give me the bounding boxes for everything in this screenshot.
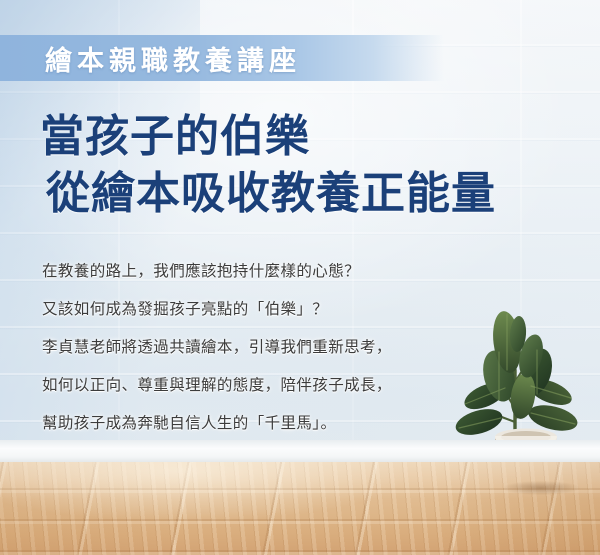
event-poster: 繪本親職教養講座 當孩子的伯樂 從繪本吸收教養正能量 在教養的路上，我們應該抱持… xyxy=(0,0,600,555)
floor-lighting xyxy=(0,462,600,555)
page-title: 當孩子的伯樂 從繪本吸收教養正能量 xyxy=(40,108,585,222)
description-line: 在教養的路上，我們應該抱持什麼樣的心態？ xyxy=(42,252,562,290)
banner-title: 繪本親職教養講座 xyxy=(45,35,301,81)
wall-baseboard xyxy=(0,440,600,464)
title-line-1: 當孩子的伯樂 xyxy=(40,108,585,165)
title-line-2: 從繪本吸收教養正能量 xyxy=(40,165,585,222)
planter-shadow xyxy=(486,478,596,498)
wood-floor xyxy=(0,462,600,555)
